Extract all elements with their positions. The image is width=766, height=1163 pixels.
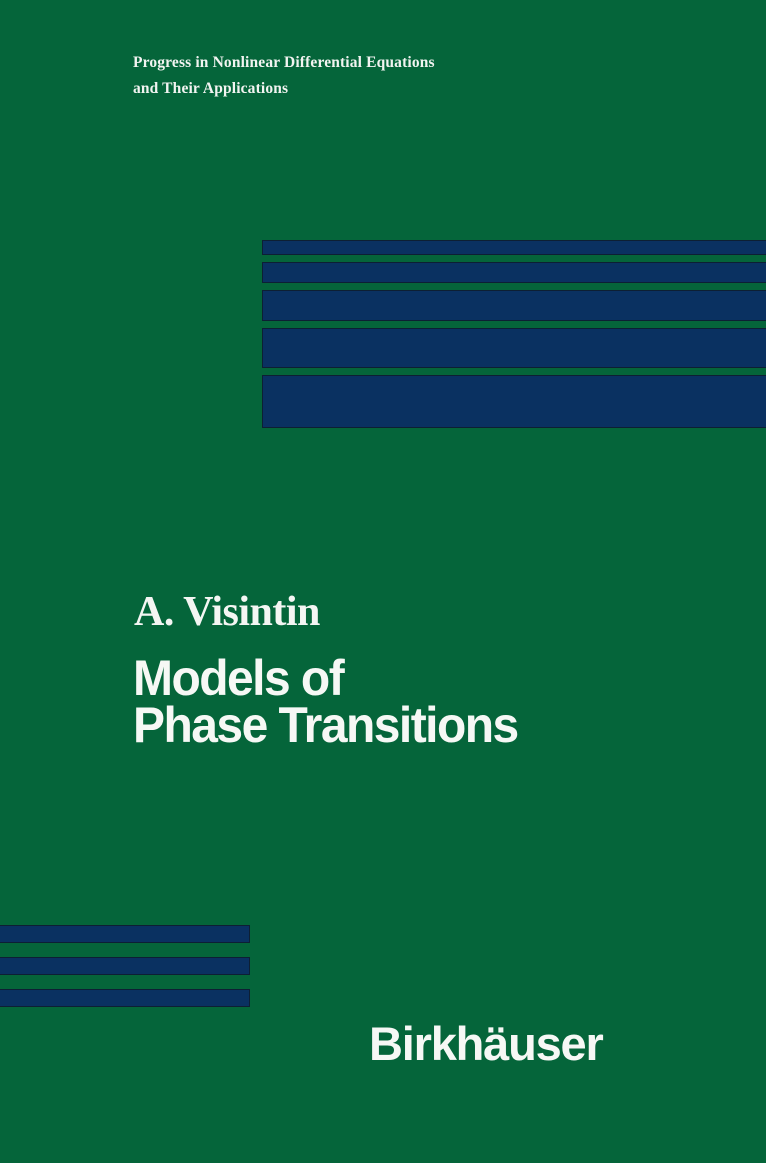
decorative-bar [262,262,766,283]
decorative-bar [262,328,766,368]
decorative-bar [262,240,766,255]
series-title: Progress in Nonlinear Differential Equat… [133,50,593,102]
decorative-bar [262,290,766,321]
series-title-line-1: Progress in Nonlinear Differential Equat… [133,50,593,76]
cover-bar-graphic-bottom [0,925,250,1007]
book-title-line-1: Models of [133,655,709,702]
decorative-bar [0,925,250,943]
decorative-bar [262,375,766,428]
series-title-line-2: and Their Applications [133,76,593,102]
cover-bar-graphic-center [262,240,766,428]
book-cover: Progress in Nonlinear Differential Equat… [0,0,766,1163]
book-title-line-2: Phase Transitions [133,702,709,749]
decorative-bar [0,989,250,1007]
decorative-bar [0,957,250,975]
author-name: A. Visintin [134,588,320,636]
publisher-logo: Birkhäuser [369,1016,603,1071]
book-title: Models of Phase Transitions [133,655,733,749]
